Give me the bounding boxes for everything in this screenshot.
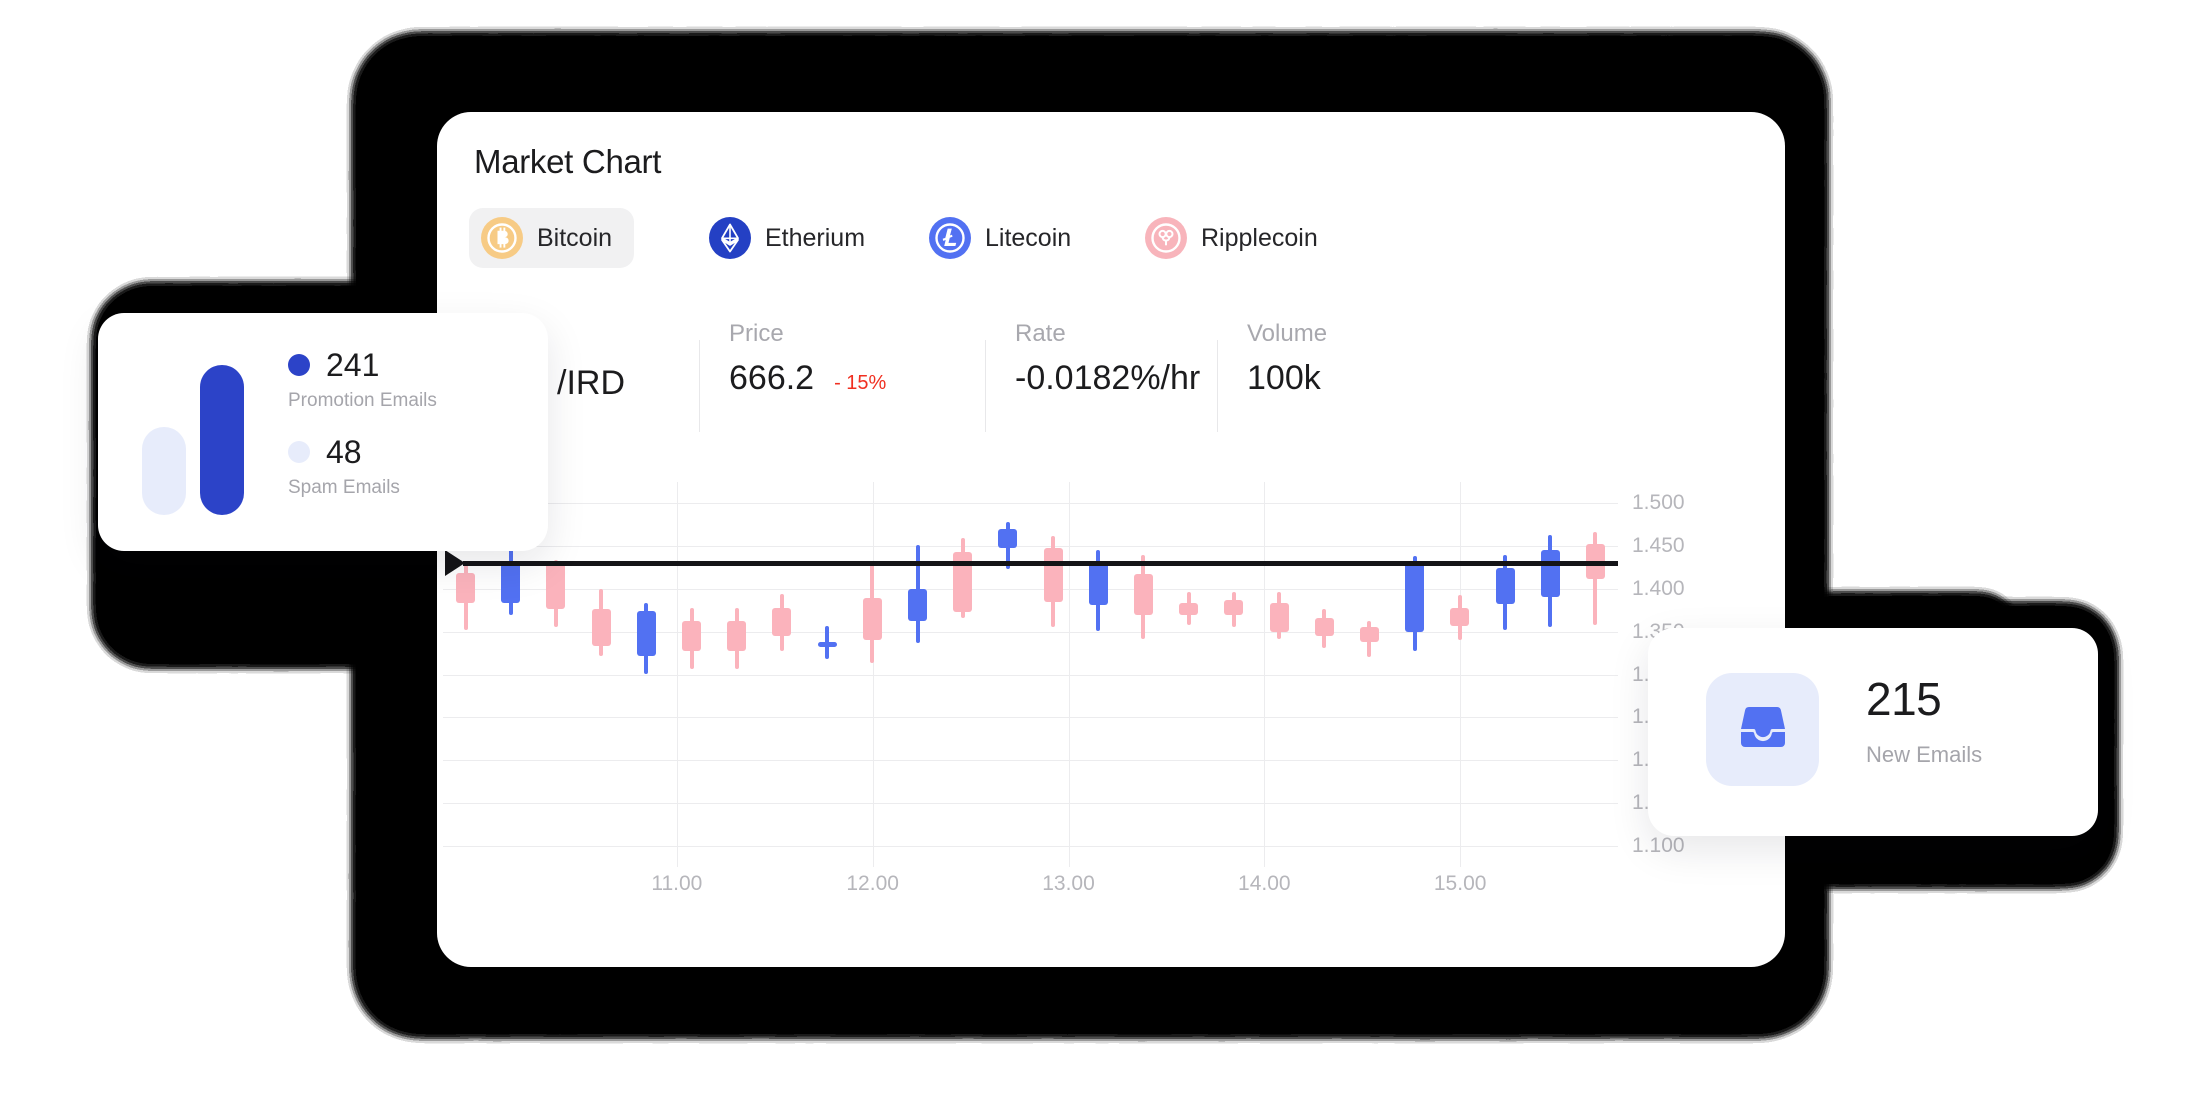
stat-divider	[985, 340, 986, 432]
chart-candle	[1179, 482, 1198, 867]
chart-candle	[1360, 482, 1379, 867]
candle-body	[908, 589, 927, 622]
email-breakdown-card: 241 Promotion Emails 48 Spam Emails	[98, 313, 548, 551]
chart-gridline-h	[443, 760, 1618, 761]
email-bar-chart	[142, 365, 262, 515]
tab-litecoin-label: Litecoin	[985, 224, 1071, 253]
promotion-count: 241	[326, 349, 379, 381]
candle-body	[546, 563, 565, 609]
coin-tab-bar: Bitcoin Etherium	[469, 208, 1729, 268]
market-chart-card: Market Chart Bitcoin	[437, 112, 1785, 967]
chart-candle	[637, 482, 656, 867]
chart-x-axis: 11.0012.0013.0014.0015.00	[443, 872, 1618, 912]
tab-etherium[interactable]: Etherium	[697, 208, 887, 268]
stat-volume: Volume 100k	[1247, 320, 1327, 397]
chart-candle	[998, 482, 1017, 867]
chart-candle	[1134, 482, 1153, 867]
candle-body	[1134, 574, 1153, 616]
new-emails-text: 215 New Emails	[1866, 676, 1982, 768]
candle-body	[637, 611, 656, 655]
chart-y-tick: 1.100	[1632, 834, 1685, 858]
chart-candle	[546, 482, 565, 867]
stat-price: Price 666.2 - 15%	[729, 320, 886, 397]
candle-body	[1089, 562, 1108, 606]
spam-label: Spam Emails	[288, 477, 437, 499]
chart-x-tick: 13.00	[1042, 872, 1095, 896]
stat-rate: Rate -0.0182%/hr	[1015, 320, 1175, 397]
chart-candle	[772, 482, 791, 867]
litecoin-icon	[929, 217, 971, 259]
inbox-icon-badge	[1706, 673, 1819, 786]
chart-candle	[1405, 482, 1424, 867]
chart-candle	[1496, 482, 1515, 867]
price-marker-line	[463, 561, 1618, 566]
chart-candle	[1224, 482, 1243, 867]
promotion-label: Promotion Emails	[288, 390, 437, 412]
email-legend: 241 Promotion Emails 48 Spam Emails	[288, 349, 437, 523]
new-emails-count: 215	[1866, 676, 1982, 722]
candle-body	[863, 598, 882, 641]
tab-bitcoin[interactable]: Bitcoin	[469, 208, 634, 268]
chart-gridline-v	[1264, 482, 1265, 867]
price-marker-arrow-icon	[445, 550, 465, 576]
stat-pair: /IRD	[557, 364, 625, 403]
new-emails-label: New Emails	[1866, 742, 1982, 768]
chart-gridline-h	[443, 675, 1618, 676]
chart-candle	[1586, 482, 1605, 867]
stat-volume-value: 100k	[1247, 360, 1327, 397]
ethereum-icon	[709, 217, 751, 259]
chart-x-tick: 12.00	[846, 872, 899, 896]
chart-y-tick: 1.450	[1632, 534, 1685, 558]
tab-bitcoin-label: Bitcoin	[537, 224, 612, 253]
market-stats: /IRD Price 666.2 - 15% Rate -0.0182%/hr …	[437, 320, 1785, 456]
chart-candle	[908, 482, 927, 867]
screenshot-root: Market Chart Bitcoin	[0, 0, 2190, 1119]
ripplecoin-icon	[1145, 217, 1187, 259]
chart-candle	[682, 482, 701, 867]
chart-candle	[727, 482, 746, 867]
candle-body	[501, 563, 520, 602]
chart-candle	[1044, 482, 1063, 867]
spam-bar	[142, 427, 186, 515]
chart-y-tick: 1.400	[1632, 577, 1685, 601]
stat-price-delta: - 15%	[834, 372, 886, 395]
candle-body	[592, 609, 611, 646]
chart-gridline-h	[443, 632, 1618, 633]
stat-price-label: Price	[729, 320, 886, 348]
page-title: Market Chart	[474, 143, 661, 181]
chart-gridline-v	[677, 482, 678, 867]
candle-body	[1450, 608, 1469, 626]
stat-rate-value: -0.0182%/hr	[1015, 360, 1145, 397]
chart-gridline-v	[1069, 482, 1070, 867]
chart-gridline-h	[443, 589, 1618, 590]
chart-gridline-h	[443, 717, 1618, 718]
stat-price-value: 666.2	[729, 360, 814, 397]
stat-rate-label: Rate	[1015, 320, 1175, 348]
candle-body	[1179, 603, 1198, 614]
spam-dot-icon	[288, 441, 310, 463]
chart-x-tick: 15.00	[1434, 872, 1487, 896]
candle-body	[772, 608, 791, 636]
candle-body	[1224, 600, 1243, 615]
candle-body	[1044, 548, 1063, 602]
chart-candle	[1541, 482, 1560, 867]
chart-candle	[863, 482, 882, 867]
tab-ripplecoin-label: Ripplecoin	[1201, 224, 1318, 253]
chart-candle	[1315, 482, 1334, 867]
candle-body	[998, 529, 1017, 548]
chart-y-tick: 1.500	[1632, 491, 1685, 515]
chart-gridline-h	[443, 846, 1618, 847]
stat-divider	[699, 340, 700, 432]
chart-gridline-h	[443, 803, 1618, 804]
candlestick-chart: 1.5001.4501.4001.3501.3001.2501.2001.150…	[437, 482, 1785, 912]
candle-body	[1405, 562, 1424, 632]
candle-body	[1270, 603, 1289, 632]
stat-pair-value: /IRD	[557, 364, 625, 403]
chart-candle	[953, 482, 972, 867]
promotion-dot-icon	[288, 354, 310, 376]
chart-candle	[592, 482, 611, 867]
promo-bar	[200, 365, 244, 515]
legend-item-spam: 48 Spam Emails	[288, 436, 437, 499]
chart-candle	[1450, 482, 1469, 867]
candle-body	[456, 573, 475, 603]
candle-body	[727, 621, 746, 651]
tab-litecoin[interactable]: Litecoin	[917, 208, 1093, 268]
candle-body	[1541, 550, 1560, 597]
legend-item-promotion: 241 Promotion Emails	[288, 349, 437, 412]
inbox-icon	[1731, 695, 1795, 764]
tab-etherium-label: Etherium	[765, 224, 865, 253]
chart-plot-area[interactable]	[443, 482, 1618, 867]
tab-ripplecoin[interactable]: Ripplecoin	[1133, 208, 1340, 268]
stat-divider	[1217, 340, 1218, 432]
candle-body	[818, 642, 837, 647]
chart-candle	[1270, 482, 1289, 867]
candle-body	[1496, 568, 1515, 605]
chart-gridline-h	[443, 546, 1618, 547]
chart-gridline-h	[443, 503, 1618, 504]
candle-body	[682, 621, 701, 651]
spam-count: 48	[326, 436, 362, 468]
stat-volume-label: Volume	[1247, 320, 1327, 348]
chart-candle	[818, 482, 837, 867]
chart-x-tick: 11.00	[651, 872, 702, 896]
new-emails-card: 215 New Emails	[1648, 628, 2098, 836]
bitcoin-icon	[481, 217, 523, 259]
chart-candle	[1089, 482, 1108, 867]
chart-x-tick: 14.00	[1238, 872, 1291, 896]
candle-body	[1315, 618, 1334, 636]
candle-body	[1360, 627, 1379, 642]
